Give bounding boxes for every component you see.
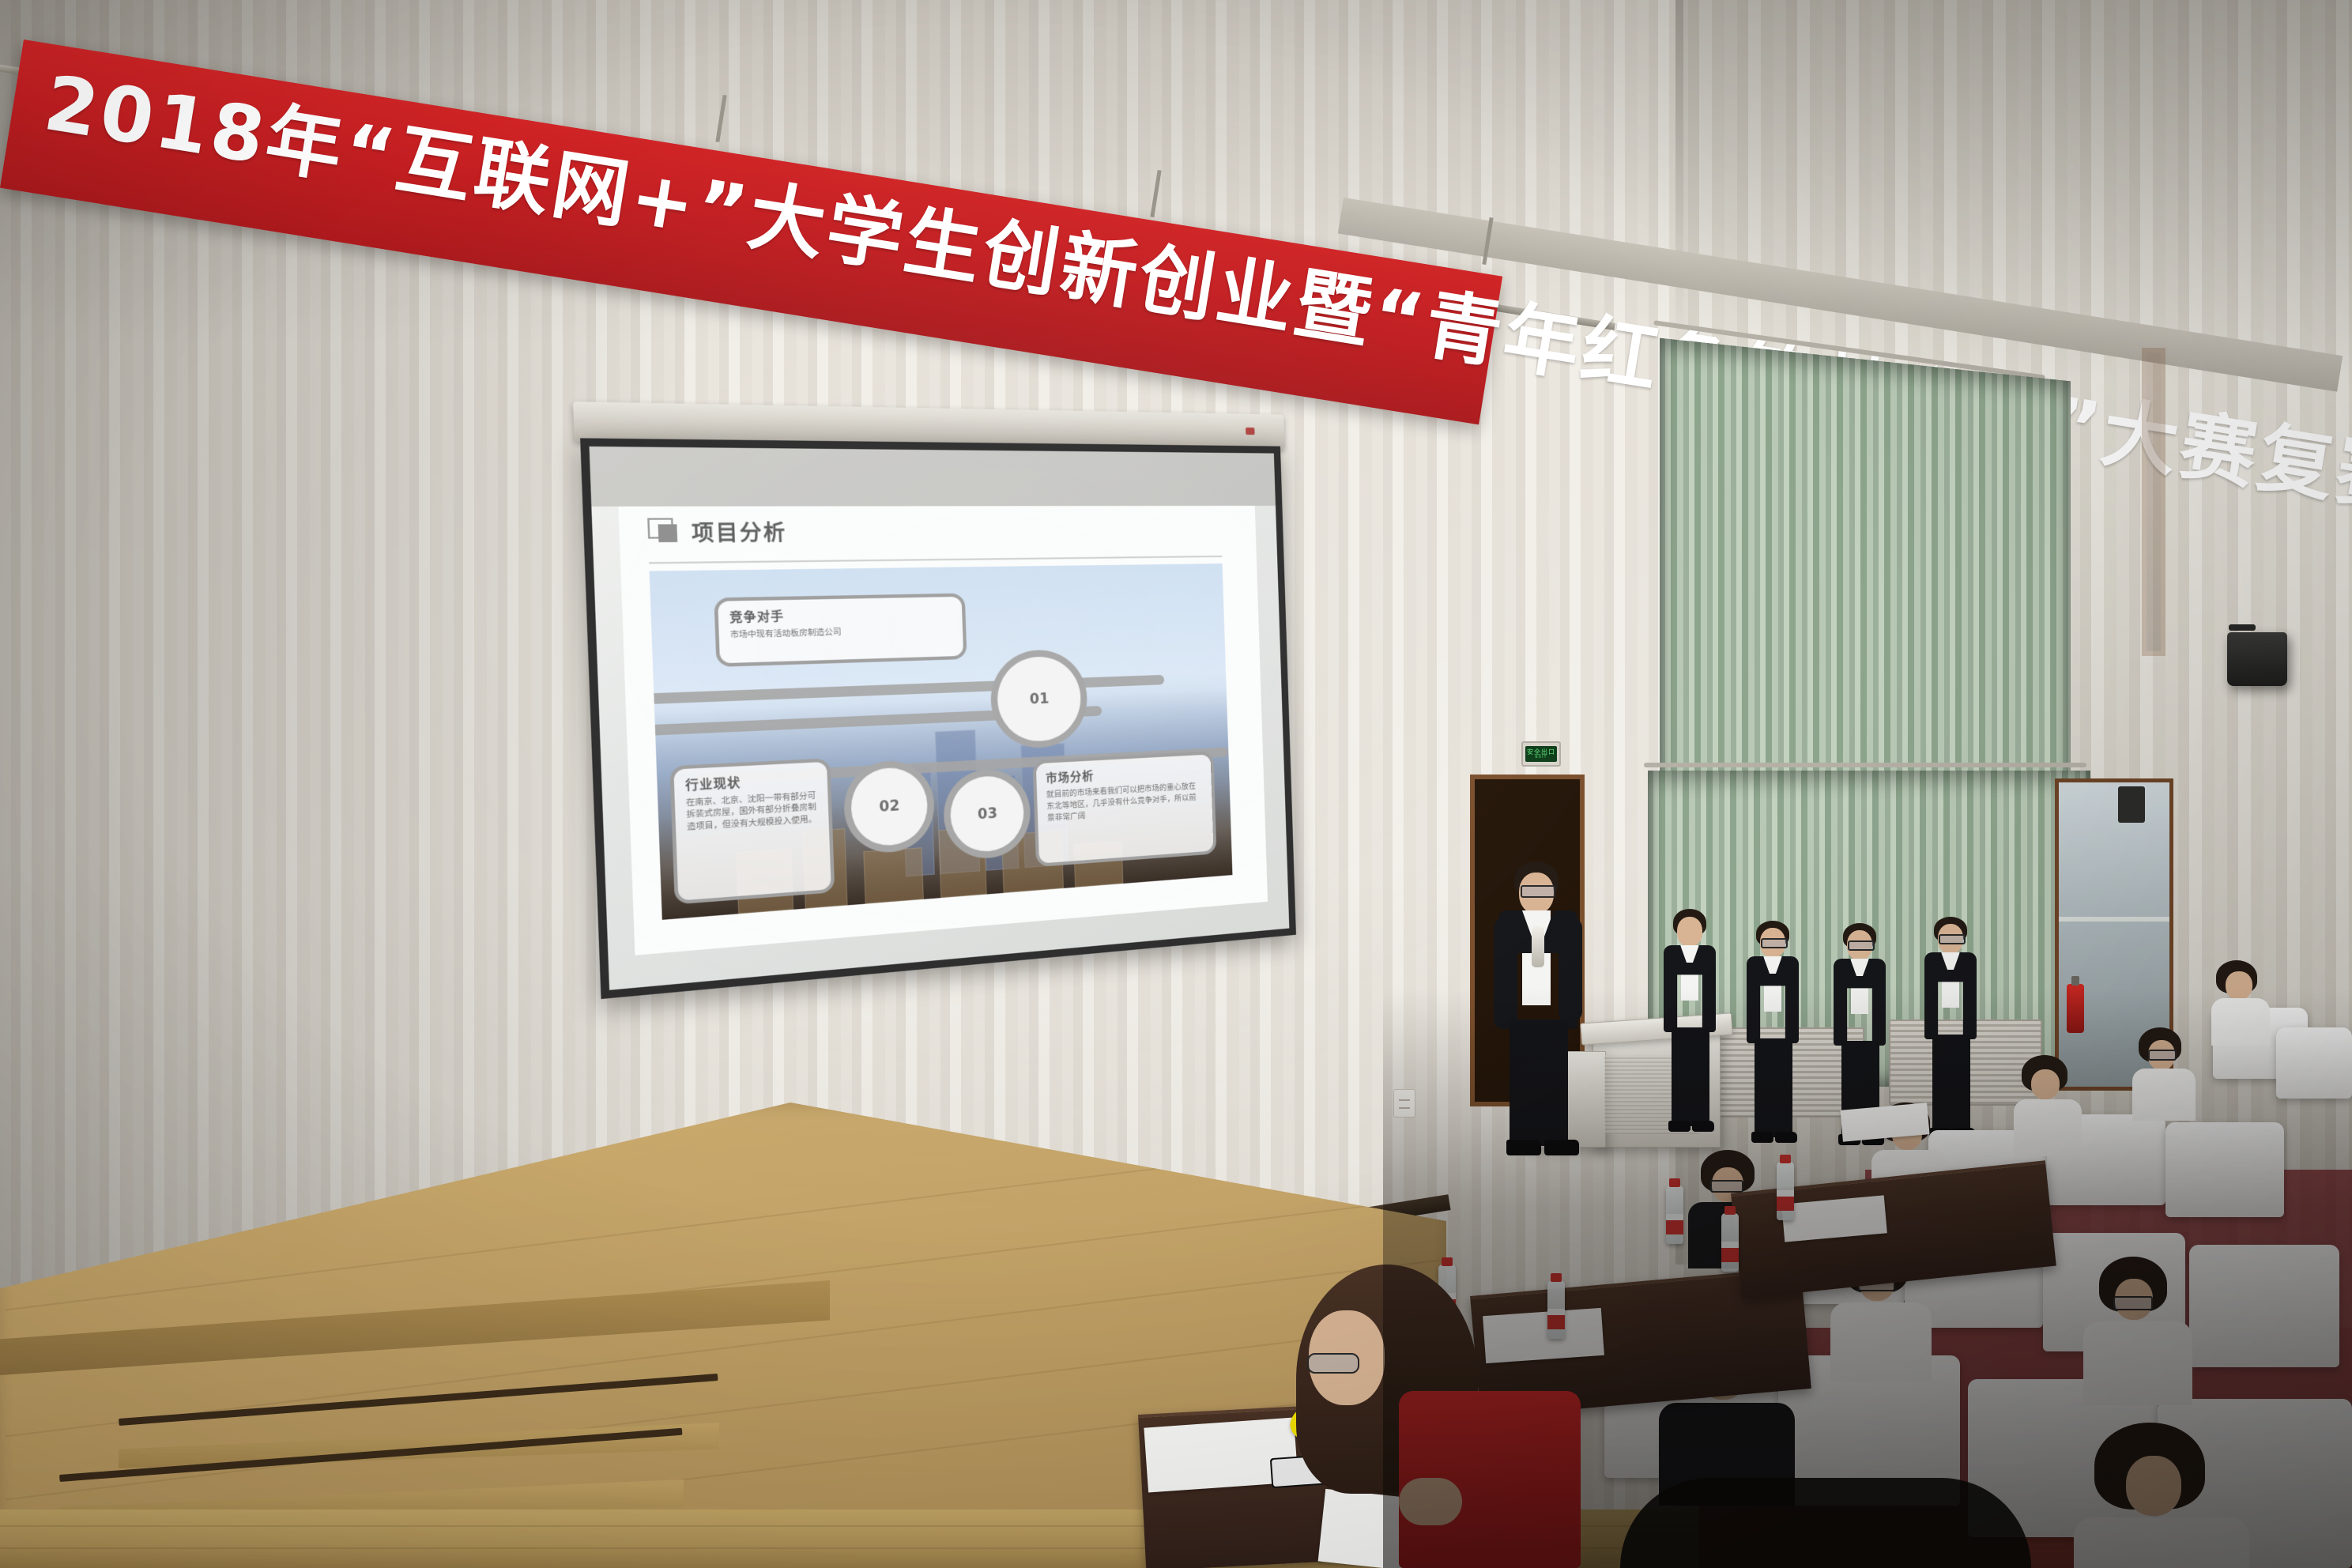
slide-box-text: 就目前的市场来看我们可以把市场的重心放在东北等地区，几乎没有什么竞争对手，所以前…	[1046, 781, 1204, 824]
slide-box-industry-status: 行业现状 在南京、北京、沈阳一带有部分可拆装式房屋，国外有部分折叠房制造项目，但…	[669, 758, 835, 905]
slide-box-market-analysis: 市场分析 就目前的市场来看我们可以把市场的重心放在东北等地区，几乎没有什么竞争对…	[1032, 752, 1216, 868]
exit-sign-en-label: EXIT	[1535, 756, 1547, 759]
judge-glasses-icon	[1307, 1353, 1359, 1374]
presenter-right-sleeve	[1559, 918, 1582, 1021]
water-bottle	[1721, 1213, 1739, 1272]
judge-hand	[1399, 1478, 1462, 1525]
presenter-shoe	[1506, 1140, 1541, 1155]
speaker-bracket	[2229, 624, 2256, 631]
slide-box-text: 在南京、北京、沈阳一带有部分可拆装式房屋，国外有部分折叠房制造项目，但没有大规模…	[686, 790, 819, 834]
slide-step-label: 02	[879, 797, 900, 816]
foreground-silhouette	[1620, 1478, 2031, 1568]
slide-step-label: 03	[978, 805, 998, 824]
slide-square-icon	[648, 518, 681, 544]
audience-member	[2079, 1257, 2197, 1407]
presenter-shoe	[1544, 1140, 1579, 1155]
audience-member	[2007, 1055, 2086, 1158]
projection-screen-surface: 项目分析	[590, 447, 1290, 990]
microphone-icon	[1532, 926, 1544, 967]
audience-seat	[2276, 1027, 2352, 1099]
presenter	[1486, 861, 1596, 1162]
event-banner: 2018年“互联网+”大学生创新创业暨“青年红色筑梦之旅”大赛复赛	[0, 16, 1604, 348]
slide-box-title: 行业现状	[685, 769, 817, 793]
team-member	[1656, 909, 1724, 1138]
wall-speaker-icon	[2227, 632, 2287, 686]
audience-member	[2205, 960, 2276, 1047]
slide-box-competitors: 竞争对手 市场中现有活动板房制造公司	[714, 594, 967, 667]
curtain-rod	[1644, 763, 2086, 767]
side-door	[2142, 348, 2165, 656]
slide-title-underline	[650, 556, 1223, 564]
water-bottle-label	[1777, 1190, 1794, 1211]
judge-in-red	[1296, 1265, 1581, 1568]
audience-member	[2071, 1423, 2252, 1568]
audience-seat	[2189, 1245, 2339, 1367]
window-mullion	[2059, 917, 2169, 922]
presentation-slide: 项目分析	[619, 506, 1268, 955]
slide-box-title: 竞争对手	[729, 604, 952, 626]
projection-screen: 项目分析	[573, 401, 1301, 1006]
water-bottle	[1666, 1185, 1683, 1244]
auditorium-photo-scene: 2018年“互联网+”大学生创新创业暨“青年红色筑梦之旅”大赛复赛 项目分析	[0, 0, 2352, 1568]
audience-member	[2126, 1027, 2201, 1122]
event-banner-text: 2018年“互联网+”大学生创新创业暨“青年红色筑梦之旅”大赛复赛	[40, 65, 1472, 367]
water-bottle-label	[1666, 1214, 1683, 1234]
slide-title: 项目分析	[691, 515, 787, 547]
slide-body: 竞争对手 市场中现有活动板房制造公司 01 行业现状 在南京、北京、沈阳一带有部…	[650, 563, 1233, 919]
presenter-glasses-icon	[1521, 885, 1555, 898]
water-bottle	[1777, 1162, 1794, 1220]
slide-step-label: 01	[1030, 690, 1050, 707]
projection-screen-frame: 项目分析	[580, 438, 1296, 999]
presenter-trousers	[1510, 1020, 1568, 1146]
screen-case-indicator	[1246, 428, 1255, 435]
slide-box-text: 市场中现有活动板房制造公司	[730, 624, 953, 642]
audience-seat	[2165, 1122, 2284, 1217]
exit-sign: 安全出口 EXIT	[1521, 741, 1561, 767]
wall-bracket	[2118, 786, 2145, 823]
water-bottle-label	[1721, 1242, 1739, 1262]
team-member	[1739, 921, 1807, 1150]
slide-header: 项目分析	[648, 515, 788, 547]
presenter-left-sleeve	[1494, 918, 1517, 1029]
wall-outlet	[1393, 1089, 1415, 1118]
fire-extinguisher-icon	[2067, 984, 2084, 1033]
